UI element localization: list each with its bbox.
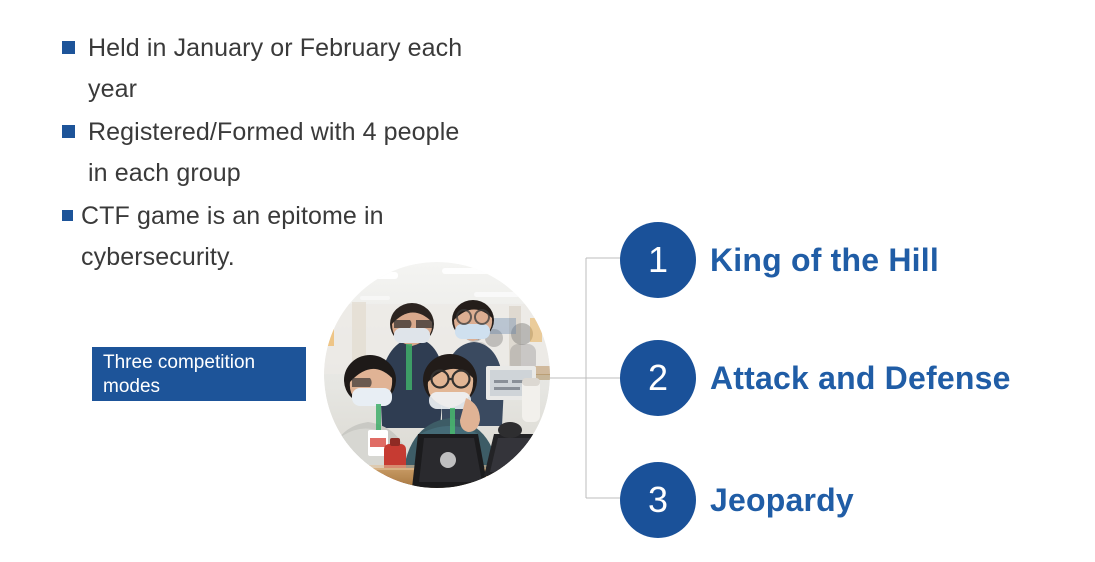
bullet-text: Held in January or February each year	[88, 28, 462, 110]
bullet-text: Registered/Formed with 4 people in each …	[88, 112, 459, 194]
mode-label: Jeopardy	[710, 482, 854, 519]
square-bullet-icon	[62, 210, 73, 221]
mode-label: King of the Hill	[710, 242, 939, 279]
students-at-laptops-photo	[324, 262, 550, 488]
list-item: Registered/Formed with 4 people in each …	[62, 112, 532, 194]
slide-canvas: Held in January or February each year Re…	[0, 0, 1095, 562]
mode-label: Attack and Defense	[710, 360, 1011, 397]
mode-number-badge: 3	[620, 462, 696, 538]
square-bullet-icon	[62, 41, 75, 54]
bullet-list: Held in January or February each year Re…	[62, 28, 532, 280]
mode-item-1[interactable]: 1 King of the Hill	[620, 222, 939, 298]
mode-item-3[interactable]: 3 Jeopardy	[620, 462, 854, 538]
list-item: Held in January or February each year	[62, 28, 532, 110]
mode-number-badge: 1	[620, 222, 696, 298]
square-bullet-icon	[62, 125, 75, 138]
caption-banner: Three competition modes	[92, 347, 306, 401]
mode-item-2[interactable]: 2 Attack and Defense	[620, 340, 1011, 416]
bullet-text: CTF game is an epitome in cybersecurity.	[81, 196, 384, 278]
mode-number-badge: 2	[620, 340, 696, 416]
